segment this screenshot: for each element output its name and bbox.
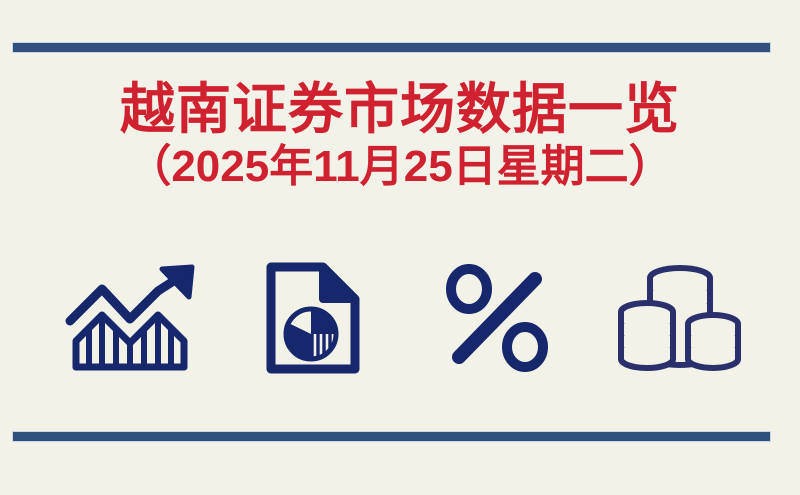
icon-row bbox=[60, 258, 750, 378]
icon-cell-document bbox=[243, 258, 383, 378]
poster-canvas: 越南证券市场数据一览 （2025年11月25日星期二） bbox=[0, 0, 800, 495]
page-title: 越南证券市场数据一览 bbox=[0, 78, 800, 140]
top-divider-rule bbox=[13, 43, 770, 52]
page-subtitle-date: （2025年11月25日星期二） bbox=[0, 140, 800, 194]
bar-chart-uptrend-icon bbox=[62, 263, 198, 373]
document-pie-chart-icon bbox=[261, 259, 365, 377]
percent-icon bbox=[443, 263, 551, 373]
title-block: 越南证券市场数据一览 （2025年11月25日星期二） bbox=[0, 78, 800, 194]
coin-stacks-icon bbox=[617, 262, 743, 374]
icon-cell-percent bbox=[427, 258, 567, 378]
bottom-divider-rule bbox=[13, 432, 770, 441]
icon-cell-coins bbox=[610, 258, 750, 378]
icon-cell-bar-chart bbox=[60, 258, 200, 378]
